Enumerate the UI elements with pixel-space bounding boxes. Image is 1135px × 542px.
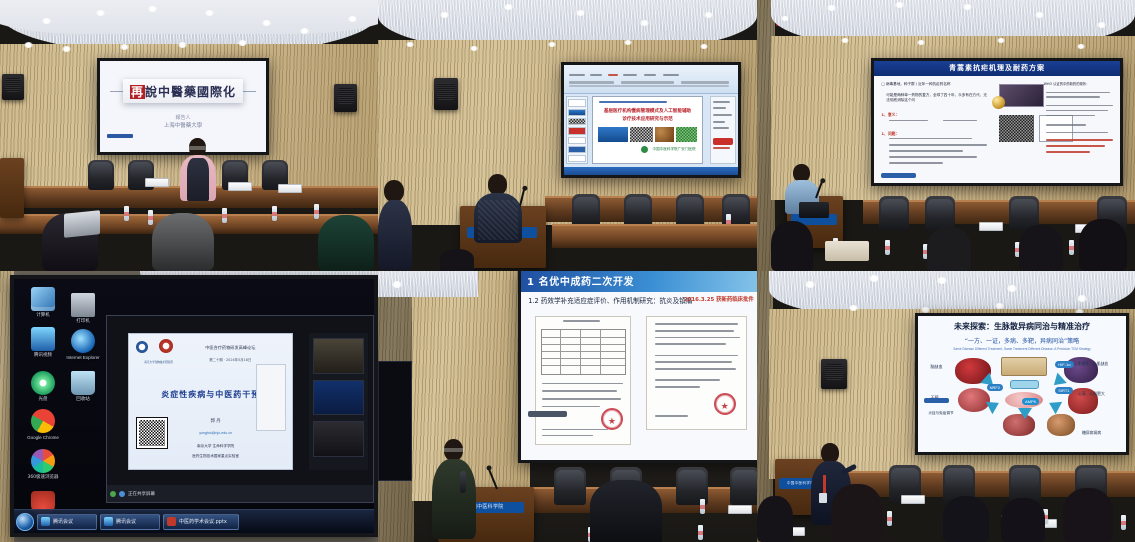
desktop-icon-computer[interactable]: 计算机	[26, 287, 60, 318]
photo-collage: 再說中醫藥國際化 報告人 上海中醫藥大學	[0, 0, 1135, 542]
pinwheel-browser-icon	[31, 449, 55, 473]
windows-desktop[interactable]: 计算机 打印机 腾讯视频 Internet Explorer 光盘	[14, 279, 374, 533]
audience-person	[943, 496, 989, 542]
gold-medal-icon	[992, 96, 1005, 109]
audience-person	[831, 484, 883, 542]
desktop-icon-label: 打印机	[66, 319, 100, 324]
chair	[676, 194, 704, 228]
process-node	[1010, 380, 1039, 390]
taskbar-button[interactable]: 腾讯会议	[100, 514, 160, 530]
internet-explorer-icon	[71, 329, 95, 353]
herb-tray-image	[1001, 357, 1047, 376]
slide-subtitle-2: 上海中醫藥大學	[100, 121, 266, 129]
branch-label: 炎症与免疫调节	[928, 411, 974, 416]
video-tile[interactable]	[313, 421, 364, 457]
taskbar-button[interactable]: 腾讯会议	[37, 514, 97, 530]
ppt-action-button[interactable]	[713, 138, 733, 145]
audience-person	[590, 480, 662, 542]
branch-label: 脑缺血	[930, 364, 942, 370]
ppt-format-pane[interactable]	[710, 96, 736, 164]
branch-label: 心肌梗死、心肌缺血	[1074, 362, 1120, 367]
tag-pill: AMPK	[1022, 398, 1039, 405]
shared-slide-email: yonghui@nju.edu.cn	[175, 431, 256, 435]
collage-panel-3[interactable]: 青蒿素抗疟机理及耐药方案 □ 病毒基地，种子群 / 近年一种抗疟药名称 可能是两…	[757, 0, 1135, 271]
organ-image-kidney	[1047, 414, 1075, 436]
shared-slide-header-2: 第二十期 · 2024年5月18日	[188, 357, 273, 362]
branch-label: 糖尿病肾病	[1082, 430, 1101, 436]
downlight	[205, 10, 214, 16]
meeting-app-icon	[104, 517, 113, 526]
led-wall[interactable]: 基层医疗机构慢病管理模式及人工智能辅助 诊疗技术应用研究与示范 中国中医科学院广…	[561, 62, 741, 178]
downlight	[300, 28, 309, 34]
desktop-icon-pinwheel-browser[interactable]: 360极速浏览器	[26, 449, 60, 480]
collage-panel-6[interactable]: 未来探索：生脉散异病同治与精准治疗 “一方、一证，多病、多靶，异病同治”策略 S…	[757, 271, 1135, 542]
audience-person	[927, 227, 971, 271]
ppt-slide-panel[interactable]	[566, 96, 589, 164]
disc-icon	[31, 371, 55, 395]
slide-bullet-group-2: 可能是两种单一药物的复方，全球了四十年，众多有在方代，无法彻底消除这个问	[886, 93, 989, 103]
photo-nobel	[999, 84, 1043, 107]
laptop	[64, 210, 100, 238]
head-table-front	[552, 224, 757, 248]
google-chrome-icon	[31, 409, 55, 433]
meeting-window[interactable]: 南京大学生物技术研究所 中医合疗药物研发高峰论坛 第二十期 · 2024年5月1…	[106, 315, 374, 503]
taskbar-button-label: 中医药学术会议.pptx	[179, 518, 227, 525]
wall-speaker-icon	[434, 78, 458, 110]
start-button-icon[interactable]	[16, 513, 34, 531]
qr-code-icon[interactable]	[137, 418, 167, 448]
ppt-slide-canvas[interactable]: 基层医疗机构慢病管理模式及人工智能辅助 诊疗技术应用研究与示范 中国中医科学院广…	[592, 96, 703, 164]
document-right	[646, 316, 747, 430]
desktop-icon-media-player[interactable]: 腾讯视频	[26, 327, 60, 358]
tag-pill: NRF2	[987, 384, 1003, 391]
shared-slide-header-1: 中医合疗药物研发高峰论坛	[188, 345, 273, 351]
desktop-icon-disc[interactable]: 光盘	[26, 371, 60, 402]
slide-title: 未来探索：生脉散异病同治与精准治疗	[918, 321, 1126, 332]
chair	[624, 194, 652, 228]
shared-slide-affiliation-2: 医药生物技术国家重点实验室	[175, 454, 256, 459]
chair	[88, 160, 114, 190]
meeting-app-icon	[41, 517, 50, 526]
meeting-toolbar[interactable]: 正在共享屏幕	[107, 485, 373, 502]
chair	[730, 467, 757, 505]
slide-subtitle: 1.2 药效学补充适应症评价、作用机制研究：抗炎及镇痛	[528, 295, 692, 305]
downlight	[96, 10, 105, 16]
slide-title-highlight: 再	[130, 85, 145, 99]
slide-english-subtitle: Same Disease Different Treatment, Same T…	[926, 347, 1117, 351]
handheld-microphone-icon	[460, 471, 466, 493]
desktop-icon-label: Google Chrome	[26, 435, 60, 440]
chair	[572, 194, 600, 228]
wps-icon	[167, 517, 176, 526]
glasses-icon	[188, 146, 207, 150]
display-screen[interactable]: 计算机 打印机 腾讯视频 Internet Explorer 光盘	[10, 275, 378, 537]
slide-section-b: 1、问题：	[881, 131, 899, 137]
official-stamp-icon	[714, 393, 736, 415]
downlight	[62, 46, 71, 52]
audience-person	[1019, 225, 1063, 271]
document-left	[535, 316, 631, 445]
wall-speaker-icon	[821, 359, 847, 389]
audience-person	[1079, 219, 1127, 271]
powerpoint-window[interactable]: 基层医疗机构慢病管理模式及人工智能辅助 诊疗技术应用研究与示范 中国中医科学院广…	[564, 65, 738, 175]
windows-taskbar[interactable]: 腾讯会议 腾讯会议 中医药学术会议.pptx	[14, 509, 374, 533]
desktop-icon-internet-explorer[interactable]: Internet Explorer	[66, 329, 100, 360]
document-stack	[825, 241, 869, 261]
audience-person	[378, 180, 412, 270]
shared-slide-presenter: 郭 丹	[178, 418, 253, 424]
presenter-person	[432, 439, 476, 539]
downlight	[42, 18, 51, 24]
taskbar-button-label: 腾讯会议	[116, 518, 136, 525]
shared-slide-affiliation-1: 南京大学 生命科学学院	[175, 444, 256, 449]
meeting-status-text: 正在共享屏幕	[128, 491, 155, 497]
video-tile[interactable]	[313, 338, 364, 374]
institute-seal-icon	[159, 339, 173, 353]
mic-status-icon[interactable]	[110, 491, 116, 497]
side-monitor	[378, 361, 412, 481]
collage-panel-1[interactable]: 再說中醫藥國際化 報告人 上海中醫藥大學	[0, 0, 378, 271]
nameplate	[228, 182, 252, 191]
slide-section-a: 1、意义：	[881, 112, 899, 118]
presenter-person	[178, 138, 218, 200]
organ-image-heart	[958, 388, 990, 412]
downlight	[148, 6, 157, 12]
led-wall[interactable]: 1 名优中成药二次开发 1.2 药效学补充适应症评价、作用机制研究：抗炎及镇痛 …	[518, 271, 757, 463]
downlight	[262, 20, 271, 26]
shared-slide[interactable]: 南京大学生物技术研究所 中医合疗药物研发高峰论坛 第二十期 · 2024年5月1…	[128, 333, 293, 471]
desktop-icon-label: Internet Explorer	[66, 355, 100, 360]
wall-speaker-icon	[2, 74, 24, 100]
slide-title-box: 再說中醫藥國際化	[123, 79, 243, 103]
ppt-heading-line-1: 基层医疗机构慢病管理模式及人工智能辅助	[599, 109, 695, 115]
structure-image	[999, 115, 1033, 142]
collage-panel-4[interactable]: 计算机 打印机 腾讯视频 Internet Explorer 光盘	[0, 271, 378, 542]
branch-label: 心衰、心肌肥大	[1078, 392, 1120, 397]
desktop-icon-chrome[interactable]: Google Chrome	[26, 409, 60, 440]
slide-footer-badge	[881, 173, 915, 178]
glasses-icon	[443, 448, 464, 452]
ppt-ribbon[interactable]	[564, 65, 738, 94]
audience-person	[771, 221, 813, 271]
slide-banner: 1 名优中成药二次开发	[521, 271, 757, 292]
audience-person	[440, 249, 474, 271]
slide-subtitle-1: 報告人	[100, 114, 266, 121]
slide-dropdown-panel[interactable]	[256, 364, 285, 432]
desktop-icon-printer[interactable]: 打印机	[66, 293, 100, 324]
ppt-status-bar	[564, 167, 738, 175]
tag-pill: HIF-1α	[1055, 361, 1073, 368]
audience-person	[1001, 498, 1045, 542]
nameplate	[145, 178, 169, 187]
recycle-bin-icon	[71, 371, 95, 395]
tag-pill: SIRT1	[1055, 387, 1072, 394]
printer-icon	[71, 293, 95, 317]
downlight	[238, 40, 247, 46]
desktop-icon-label: 360极速浏览器	[26, 475, 60, 480]
seal-caption: 南京大学生物技术研究所	[136, 361, 182, 364]
ppt-slide-footer: 中国中医科学院广安门医院	[650, 147, 696, 152]
audience-person	[757, 496, 793, 542]
led-wall[interactable]: 未来探索：生脉散异病同治与精准治疗 “一方、一证，多病、多靶，异病同治”策略 S…	[915, 313, 1129, 455]
slide-bullet-group-1: □ 病毒基地，种子群 / 近年一种抗疟药名称	[881, 82, 989, 87]
chair	[554, 467, 586, 505]
collage-panel-5[interactable]: 1 名优中成药二次开发 1.2 药效学补充适应症评价、作用机制研究：抗炎及镇痛 …	[378, 271, 757, 542]
camera-status-icon[interactable]	[119, 491, 125, 497]
downlight	[348, 16, 357, 22]
participant-panel[interactable]	[309, 333, 368, 471]
desktop-icon-label: 光盘	[26, 397, 60, 402]
slide-panel-5: 1 名优中成药二次开发 1.2 药效学补充适应症评价、作用机制研究：抗炎及镇痛 …	[521, 271, 757, 460]
downlight	[178, 42, 187, 48]
downlight	[24, 42, 33, 48]
video-tile[interactable]	[313, 380, 364, 416]
slide-right-heading: WHO 认证的中药新药的现状：	[1044, 82, 1115, 86]
wall-speaker-icon	[334, 84, 357, 112]
ceiling-band	[0, 0, 378, 34]
slide-subtitle: “一方、一证，多病、多靶，异病同治”策略	[918, 336, 1126, 345]
slide-date-note: 2016.3.25 获新药临床批件	[684, 295, 754, 303]
slide-footer-badge	[107, 134, 134, 138]
audience-person	[152, 213, 214, 271]
slide-panel-6: 未来探索：生脉散异病同治与精准治疗 “一方、一证，多病、多靶，异病同治”策略 S…	[918, 316, 1126, 452]
side-lectern	[0, 158, 24, 218]
official-stamp-icon	[601, 408, 623, 430]
desktop-icon-label: 回收站	[66, 397, 100, 402]
desktop-icon-recycle-bin[interactable]: 回收站	[66, 371, 100, 402]
desktop-icon-label: 计算机	[26, 313, 60, 318]
downlight	[120, 44, 129, 50]
led-wall[interactable]: 青蒿素抗疟机理及耐药方案 □ 病毒基地，种子群 / 近年一种抗疟药名称 可能是两…	[871, 58, 1123, 186]
taskbar-button[interactable]: 中医药学术会议.pptx	[163, 514, 239, 530]
taskbar-button-label: 腾讯会议	[53, 518, 73, 525]
audience-person	[318, 215, 374, 271]
slide-panel-3: 青蒿素抗疟机理及耐药方案 □ 病毒基地，种子群 / 近年一种抗疟药名称 可能是两…	[874, 61, 1120, 183]
slide-footer-badge	[924, 398, 949, 403]
slide-title-rest: 說中醫藥國際化	[145, 85, 236, 99]
collage-panel-2[interactable]: 基层医疗机构慢病管理模式及人工智能辅助 诊疗技术应用研究与示范 中国中医科学院广…	[378, 0, 757, 271]
slide-banner-text: 1 名优中成药二次开发	[527, 273, 634, 288]
ppt-heading-line-2: 诊疗技术应用研究与示范	[599, 117, 695, 123]
slide-footer-badge	[528, 411, 566, 417]
media-player-icon	[31, 327, 55, 351]
computer-icon	[31, 287, 55, 311]
desktop-icon-label: 腾讯视频	[26, 353, 60, 358]
university-seal-icon	[136, 341, 148, 353]
audience-row	[0, 211, 378, 271]
slide-title: 青蒿素抗疟机理及耐药方案	[874, 61, 1120, 76]
presenter-person	[474, 174, 522, 240]
mechanism-chart	[1039, 115, 1073, 142]
org-logo-icon	[641, 146, 648, 153]
audience-person	[1063, 488, 1113, 542]
nameplate	[278, 184, 302, 193]
nameplate	[728, 505, 752, 514]
